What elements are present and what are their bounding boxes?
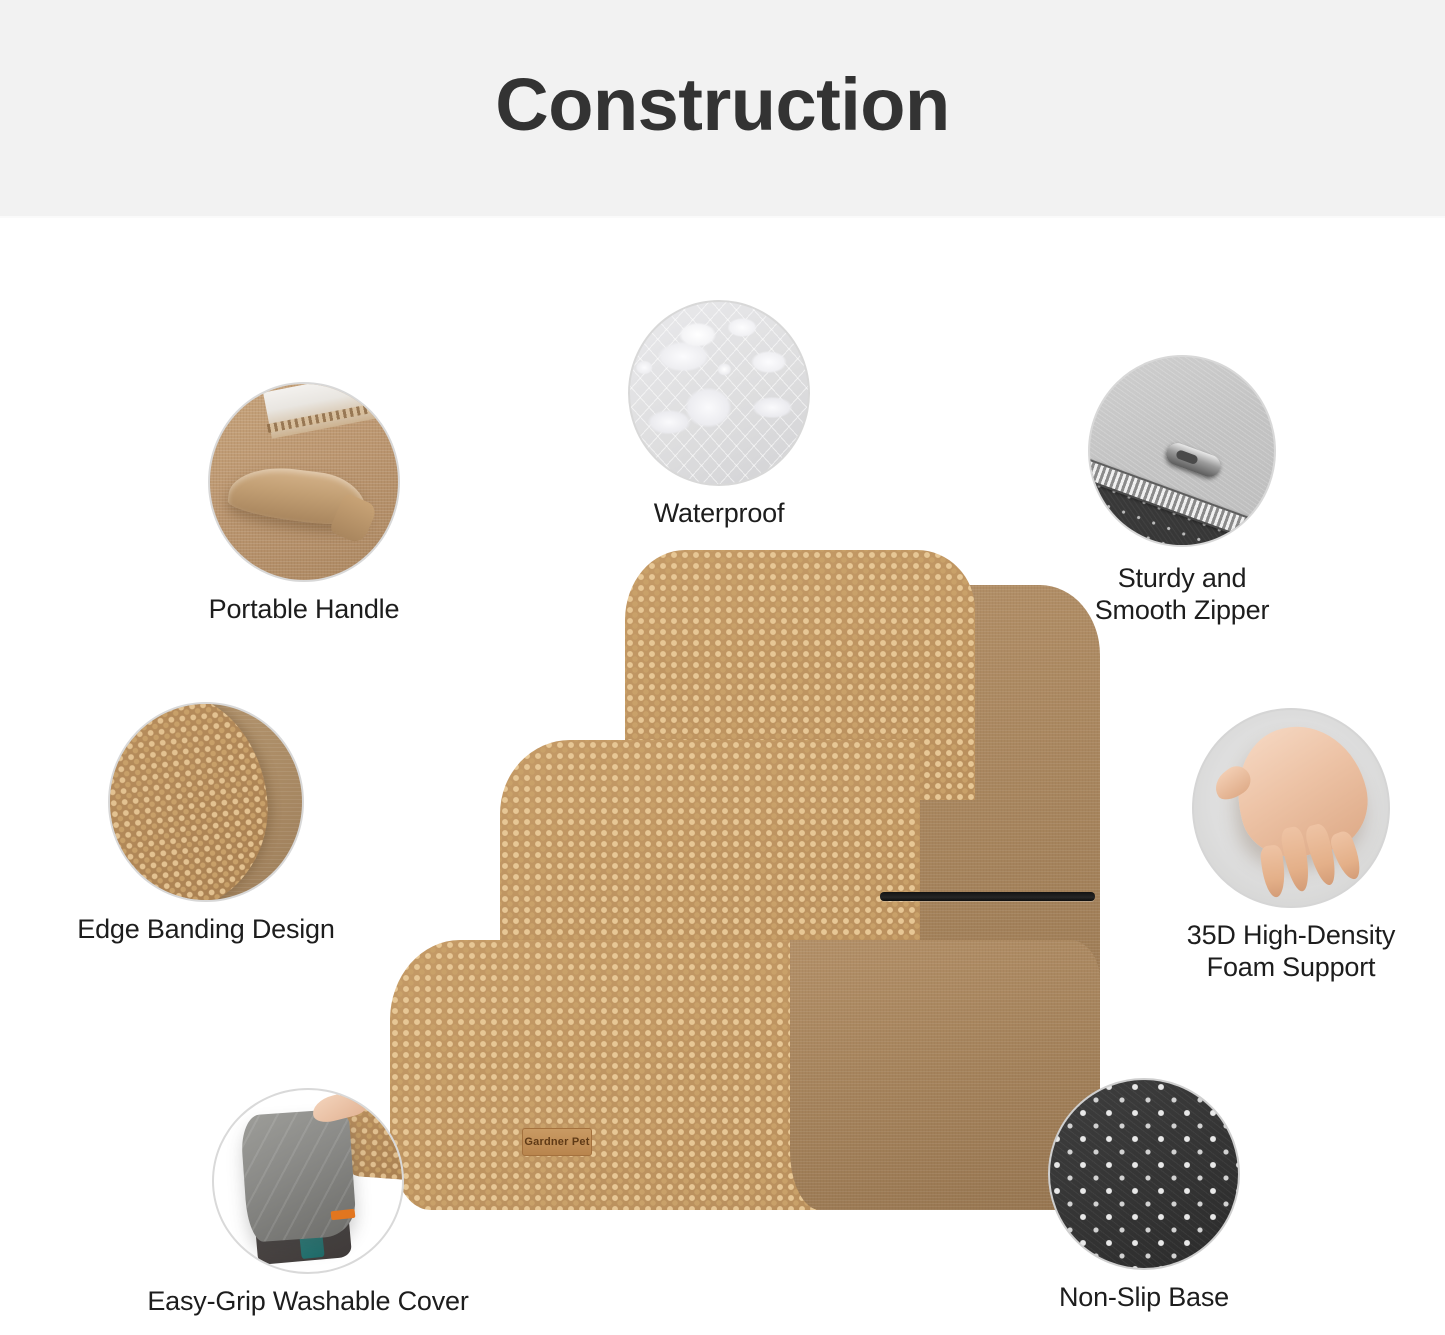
callout-label-non-slip-base: Non-Slip Base [1006, 1282, 1282, 1314]
edge-knit-region [108, 702, 278, 902]
product-zipper [880, 892, 1095, 901]
thumb-shape [1208, 761, 1256, 806]
removable-cover-icon [212, 1088, 404, 1274]
callout-label-foam-support: 35D High-Density Foam Support [1130, 920, 1445, 984]
callout-easy-grip-washable-cover: Easy-Grip Washable Cover [212, 1088, 404, 1335]
callout-label-easy-grip-washable-cover: Easy-Grip Washable Cover [116, 1286, 500, 1318]
zipper-icon [1088, 355, 1276, 547]
zipper-pull [1163, 440, 1223, 480]
edge-seam-icon [108, 702, 304, 902]
page-header: Construction [0, 0, 1445, 218]
handle-strap-icon [208, 382, 400, 582]
grip-dots-icon [1048, 1078, 1240, 1270]
water-droplets-icon [628, 300, 810, 486]
callout-foam-support: 35D High-Density Foam Support [1192, 708, 1390, 978]
callout-label-waterproof: Waterproof [569, 498, 869, 530]
product-image: Gardner Pet [370, 540, 1130, 1240]
callout-sturdy-smooth-zipper: Sturdy and Smooth Zipper [1088, 355, 1276, 625]
callout-non-slip-base: Non-Slip Base [1048, 1078, 1240, 1328]
callout-label-portable-handle: Portable Handle [160, 594, 448, 626]
page-title: Construction [0, 62, 1445, 147]
cover-cloth [240, 1108, 358, 1243]
hand-pressing-foam-icon [1192, 708, 1390, 908]
brand-label: Gardner Pet [522, 1128, 592, 1156]
callout-label-sturdy-smooth-zipper: Sturdy and Smooth Zipper [1045, 563, 1319, 627]
handle-strap-shape [226, 462, 370, 530]
finger-1 [1259, 844, 1287, 898]
callout-label-edge-banding-design: Edge Banding Design [18, 914, 394, 946]
callout-edge-banding-design: Edge Banding Design [108, 702, 304, 962]
product-infographic: Construction Gardner Pet Portable Handle… [0, 0, 1445, 1335]
hand-shape [1224, 713, 1378, 868]
callout-portable-handle: Portable Handle [208, 382, 400, 632]
callout-waterproof: Waterproof [628, 300, 810, 550]
